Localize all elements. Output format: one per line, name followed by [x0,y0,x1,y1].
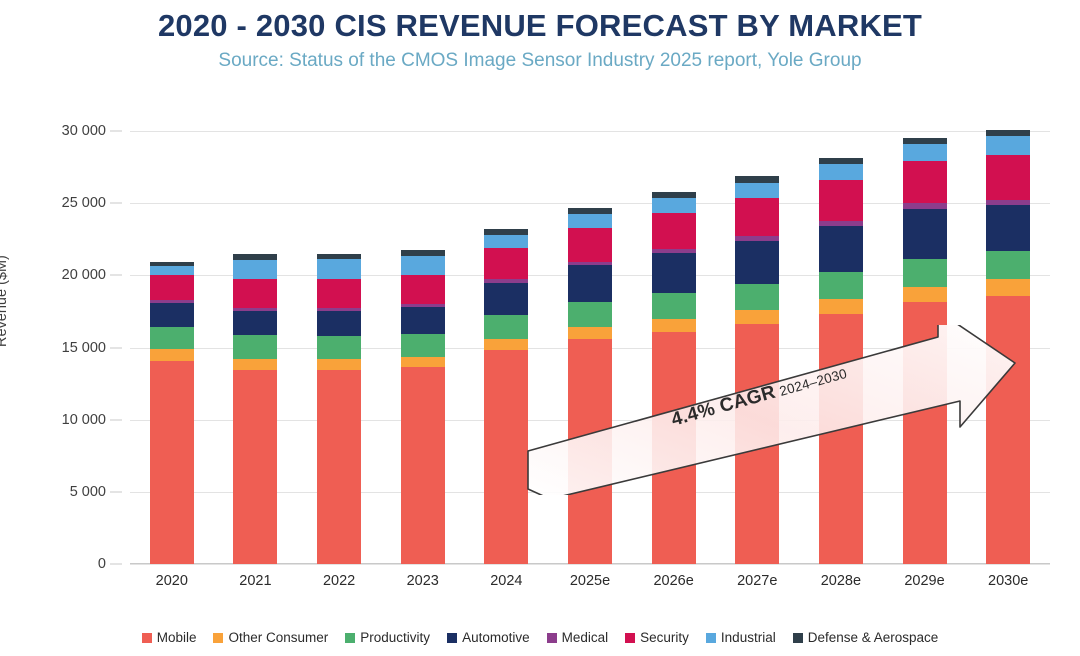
bar-segment[interactable] [401,367,445,564]
bar-segment[interactable] [903,209,947,260]
y-tick-mark [110,203,122,204]
x-tick-label: 2024 [465,573,549,589]
bar-segment[interactable] [233,335,277,360]
bar-segment[interactable] [233,279,277,308]
bar-stack[interactable] [568,208,612,564]
bar-segment[interactable] [484,283,528,315]
legend-swatch-icon [345,633,355,643]
bar-segment[interactable] [568,265,612,302]
x-tick-label: 2021 [214,573,298,589]
bar-segment[interactable] [986,279,1030,296]
y-tick-mark [110,419,122,420]
bar-segment[interactable] [568,327,612,339]
bar-segment[interactable] [150,349,194,361]
bar-segment[interactable] [986,155,1030,200]
x-tick-label: 2029e [883,573,967,589]
legend-item[interactable]: Other Consumer [213,630,328,645]
y-axis-tick-labels: 05 00010 00015 00020 00025 00030 000 [0,131,130,564]
bar-segment[interactable] [401,275,445,304]
y-tick-label: 5 000 [70,484,106,500]
bar-stack[interactable] [401,250,445,564]
bar-segment[interactable] [735,284,779,310]
x-tick-label: 2028e [799,573,883,589]
bar-segment[interactable] [652,253,696,293]
gridline [130,564,1050,565]
legend-item[interactable]: Defense & Aerospace [793,630,939,645]
chart-title: 2020 - 2030 CIS REVENUE FORECAST BY MARK… [0,8,1080,44]
legend-label: Other Consumer [228,630,328,645]
y-tick-label: 15 000 [62,340,106,356]
y-tick-label: 25 000 [62,195,106,211]
bar-segment[interactable] [317,259,361,279]
bar-stack[interactable] [233,254,277,564]
bar-segment[interactable] [484,339,528,351]
bar-segment[interactable] [819,180,863,220]
bar-segment[interactable] [652,213,696,249]
bar-segment[interactable] [233,260,277,279]
bar-segment[interactable] [986,205,1030,250]
bar-segment[interactable] [652,332,696,564]
legend-label: Security [640,630,689,645]
y-tick-mark [110,491,122,492]
legend-item[interactable]: Productivity [345,630,430,645]
bar-segment[interactable] [484,350,528,564]
bar-segment[interactable] [819,314,863,564]
bar-segment[interactable] [819,226,863,273]
bar-segment[interactable] [233,370,277,564]
bar-segment[interactable] [652,293,696,318]
bar-stack[interactable] [652,192,696,564]
bar-segment[interactable] [903,144,947,161]
legend-item[interactable]: Medical [547,630,609,645]
legend-label: Defense & Aerospace [808,630,939,645]
bar-segment[interactable] [652,319,696,332]
legend-label: Mobile [157,630,197,645]
x-tick-label: 2022 [297,573,381,589]
bar-segment[interactable] [568,339,612,564]
bar-segment[interactable] [150,266,194,275]
bar-segment[interactable] [903,302,947,564]
chart-subtitle: Source: Status of the CMOS Image Sensor … [0,50,1080,72]
bar-segment[interactable] [401,357,445,367]
y-tick-mark [110,275,122,276]
bar-segment[interactable] [401,256,445,275]
bar-segment[interactable] [819,299,863,313]
x-tick-label: 2020 [130,573,214,589]
legend-label: Productivity [360,630,430,645]
bar-segment[interactable] [317,359,361,370]
bar-segment[interactable] [233,359,277,370]
bar-segment[interactable] [903,259,947,286]
bar-segment[interactable] [233,311,277,335]
bar-segment[interactable] [150,275,194,300]
bar-segment[interactable] [317,370,361,564]
bar-segment[interactable] [903,161,947,204]
x-tick-label: 2023 [381,573,465,589]
bar-segment[interactable] [735,241,779,284]
bar-segment[interactable] [903,287,947,302]
bar-segment[interactable] [735,324,779,564]
bar-segment[interactable] [568,302,612,327]
bar-segment[interactable] [317,311,361,336]
legend-swatch-icon [793,633,803,643]
bar-segment[interactable] [317,336,361,360]
bar-stack[interactable] [484,229,528,564]
bar-segment[interactable] [484,235,528,248]
y-tick-mark [110,131,122,132]
legend-item[interactable]: Security [625,630,689,645]
bar-segment[interactable] [568,228,612,262]
x-tick-label: 2026e [632,573,716,589]
bar-segment[interactable] [819,164,863,180]
bar-segment[interactable] [986,136,1030,155]
bar-segment[interactable] [401,307,445,334]
bar-group [130,131,1050,564]
bar-stack[interactable] [150,262,194,564]
y-tick-label: 30 000 [62,123,106,139]
bar-segment[interactable] [317,279,361,308]
bar-segment[interactable] [819,272,863,299]
bar-segment[interactable] [484,248,528,280]
legend-swatch-icon [142,633,152,643]
bar-segment[interactable] [735,198,779,236]
legend-swatch-icon [213,633,223,643]
chart-legend: MobileOther ConsumerProductivityAutomoti… [0,630,1080,645]
y-tick-label: 0 [98,556,106,572]
y-tick-mark [110,564,122,565]
bar-stack[interactable] [819,158,863,564]
chart-container: 2020 - 2030 CIS REVENUE FORECAST BY MARK… [0,0,1080,656]
legend-label: Automotive [462,630,530,645]
legend-item[interactable]: Mobile [142,630,197,645]
bar-segment[interactable] [150,327,194,349]
bar-segment[interactable] [484,315,528,339]
bar-segment[interactable] [401,334,445,357]
bar-segment[interactable] [986,251,1030,279]
bar-segment[interactable] [735,310,779,324]
y-tick-label: 10 000 [62,412,106,428]
bar-stack[interactable] [735,176,779,564]
legend-swatch-icon [706,633,716,643]
bar-segment[interactable] [150,303,194,327]
bar-segment[interactable] [652,198,696,212]
y-tick-mark [110,347,122,348]
legend-swatch-icon [447,633,457,643]
bar-stack[interactable] [986,130,1030,564]
legend-label: Industrial [721,630,776,645]
bar-segment[interactable] [568,214,612,228]
legend-swatch-icon [625,633,635,643]
bar-stack[interactable] [903,138,947,564]
legend-item[interactable]: Industrial [706,630,776,645]
legend-label: Medical [562,630,609,645]
y-tick-label: 20 000 [62,267,106,283]
bar-segment[interactable] [735,183,779,198]
x-tick-label: 2027e [715,573,799,589]
bar-segment[interactable] [150,361,194,565]
bar-segment[interactable] [986,296,1030,564]
legend-swatch-icon [547,633,557,643]
x-tick-label: 2030e [966,573,1050,589]
x-tick-label: 2025e [548,573,632,589]
legend-item[interactable]: Automotive [447,630,530,645]
plot-area: 202020212022202320242025e2026e2027e2028e… [130,131,1050,564]
bar-stack[interactable] [317,254,361,564]
